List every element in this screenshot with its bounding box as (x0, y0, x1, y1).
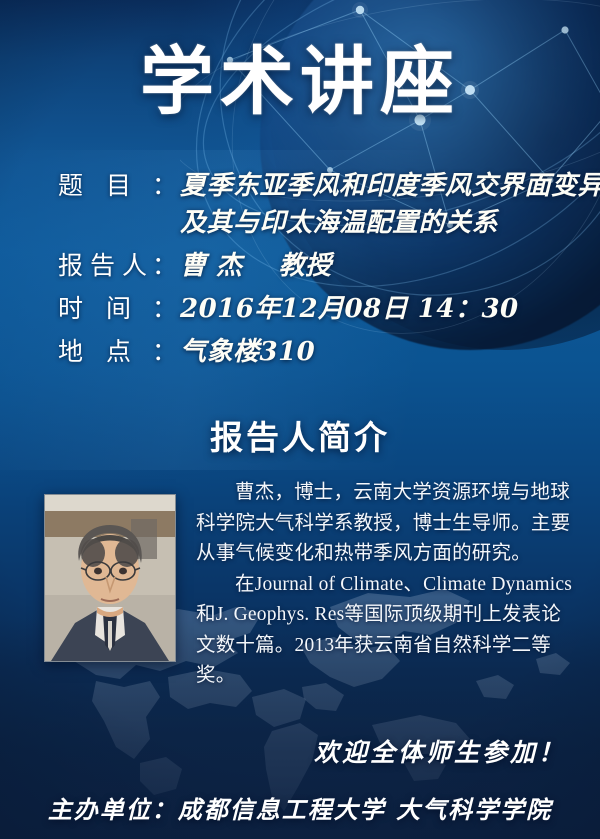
label-char: 间 (106, 291, 132, 328)
label-char: 时 (58, 291, 84, 328)
lecture-poster: 学术讲座 题 目 ： 夏季东亚季风和印度季风交界面变异 及其与印太海温配置的关系… (0, 0, 600, 839)
info-row-location: 地 点 ： 气象楼310 (58, 334, 576, 371)
speaker-bio-heading: 报告人简介 (0, 411, 600, 459)
label-char: ： (152, 291, 178, 328)
info-value-topic: 夏季东亚季风和印度季风交界面变异 及其与印太海温配置的关系 (180, 168, 600, 242)
bio-paragraph: 在Journal of Climate、Climate Dynamics和J. … (196, 570, 574, 692)
speaker-name: 曹 杰 教授 (180, 248, 332, 285)
label-char: 报 (58, 248, 84, 285)
label-char: ： (152, 334, 178, 371)
info-label-time: 时 间 ： (58, 291, 180, 328)
label-char: 点 (106, 334, 132, 371)
info-row-topic: 题 目 ： 夏季东亚季风和印度季风交界面变异 及其与印太海温配置的关系 (58, 168, 576, 242)
speaker-bio-text: 曹杰，博士，云南大学资源环境与地球科学院大气科学系教授，博士生导师。主要从事气候… (196, 478, 574, 692)
info-label-topic: 题 目 ： (58, 168, 180, 205)
portrait-illustration (45, 495, 175, 661)
label-char: 目 (106, 168, 132, 205)
speaker-photo (44, 494, 176, 662)
lecture-info-block: 题 目 ： 夏季东亚季风和印度季风交界面变异 及其与印太海温配置的关系 报 告 … (58, 168, 576, 377)
bio-paragraph: 曹杰，博士，云南大学资源环境与地球科学院大气科学系教授，博士生导师。主要从事气候… (196, 478, 574, 570)
location-text: 气象楼310 (180, 334, 315, 371)
organizer-line: 主办单位：成都信息工程大学 大气科学学院 (0, 790, 600, 825)
label-char: 告 (90, 248, 116, 285)
label-char: 题 (58, 168, 84, 205)
poster-title: 学术讲座 (0, 46, 600, 120)
label-char: 地 (58, 334, 84, 371)
label-char: 人 (122, 248, 148, 285)
info-label-speaker: 报 告 人 ： (58, 248, 180, 285)
topic-line: 及其与印太海温配置的关系 (180, 205, 600, 242)
info-row-speaker: 报 告 人 ： 曹 杰 教授 (58, 248, 576, 285)
info-row-time: 时 间 ： 2016年12月08日 14：30 (58, 291, 576, 328)
info-value-speaker: 曹 杰 教授 (180, 248, 332, 285)
topic-line: 夏季东亚季风和印度季风交界面变异 (180, 168, 600, 205)
time-text: 2016年12月08日 14：30 (180, 291, 519, 328)
label-char: ： (152, 168, 178, 205)
welcome-note: 欢迎全体师生参加！ (314, 733, 566, 769)
info-label-location: 地 点 ： (58, 334, 180, 371)
info-value-time: 2016年12月08日 14：30 (180, 291, 519, 328)
label-char: ： (152, 248, 178, 285)
info-value-location: 气象楼310 (180, 334, 315, 371)
